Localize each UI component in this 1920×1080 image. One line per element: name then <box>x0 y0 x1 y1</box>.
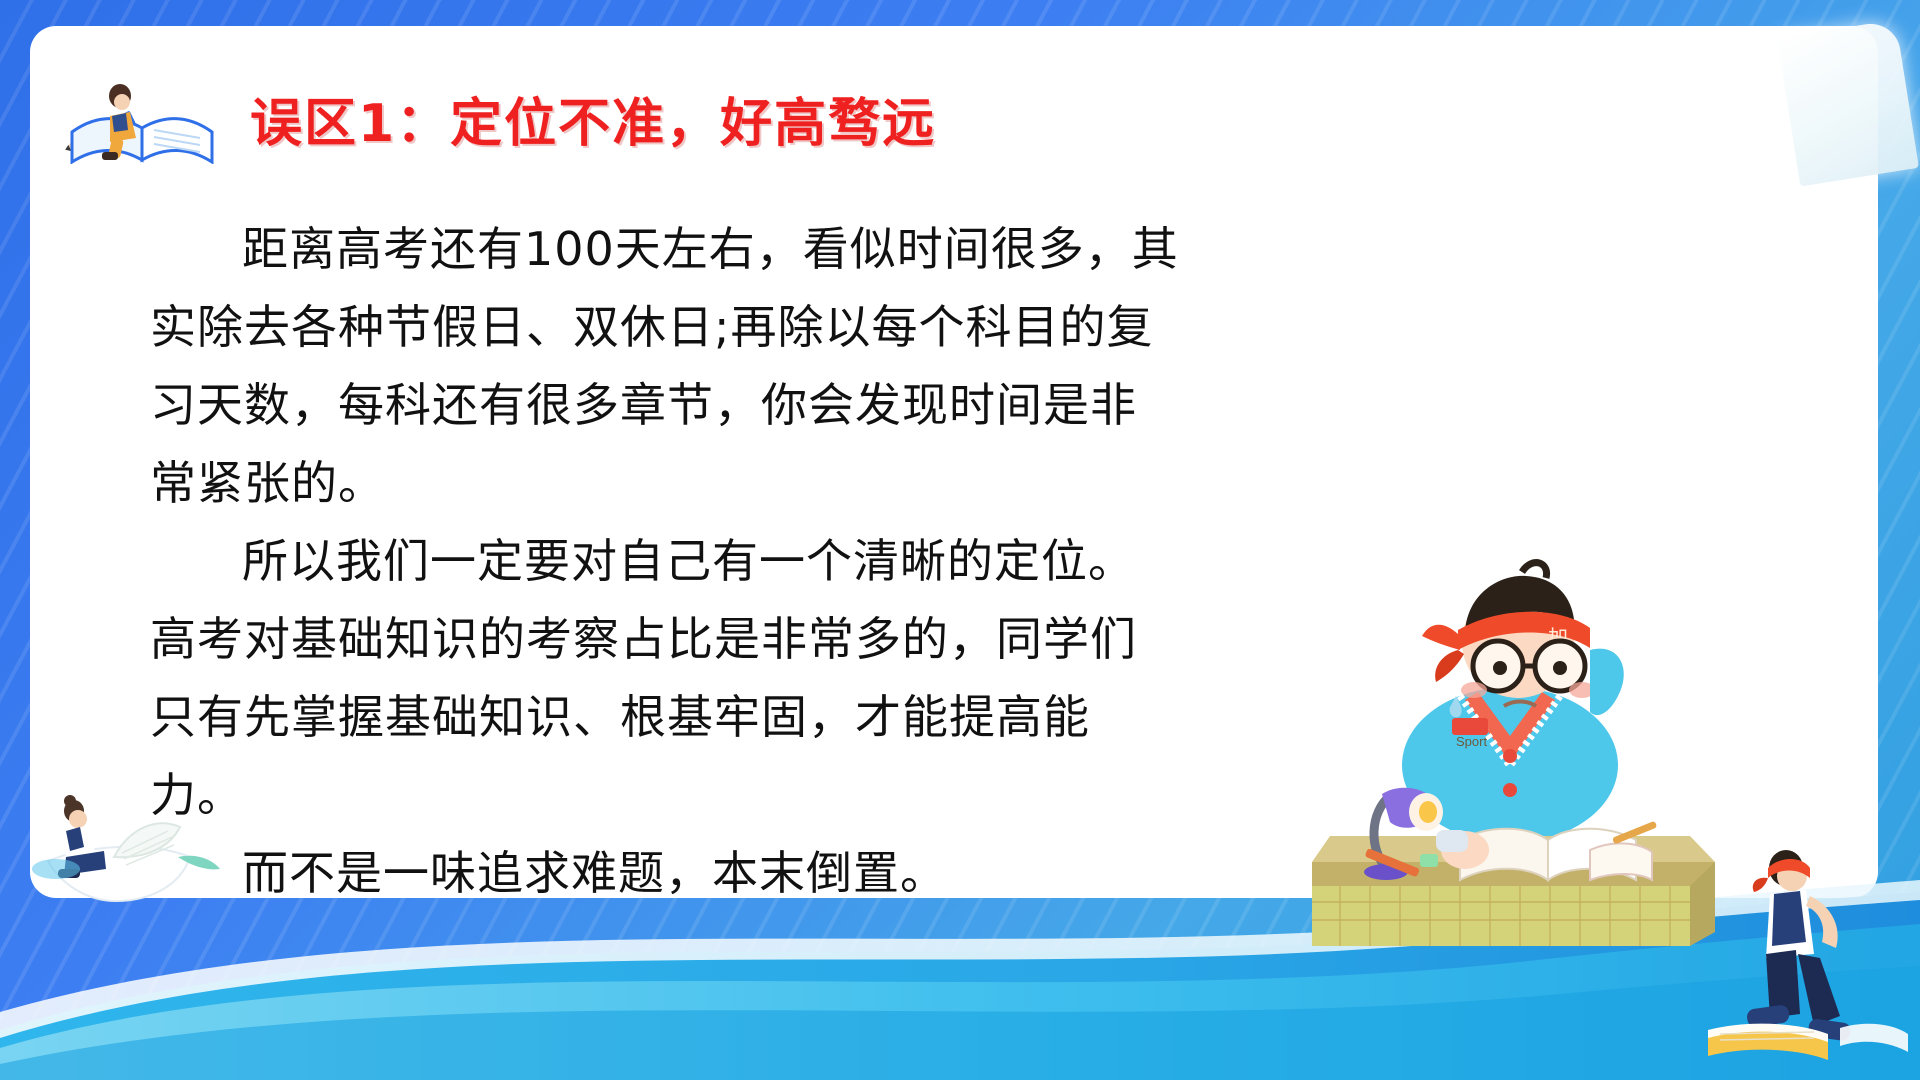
slide-header: 误区1：定位不准，好高骛远 <box>60 72 936 164</box>
paragraph-3: 而不是一味追求难题，本末倒置。 <box>150 834 1180 912</box>
paragraph-2: 所以我们一定要对自己有一个清晰的定位。高考对基础知识的考察占比是非常多的，同学们… <box>150 522 1180 834</box>
slide-root: 误区1：定位不准，好高骛远 距离高考还有100天左右，看似时间很多，其实除去各种… <box>0 0 1920 1080</box>
page-title: 误区1：定位不准，好高骛远 <box>250 81 936 156</box>
student-badge-text: Sport <box>1456 734 1487 749</box>
open-book-icon <box>60 72 230 164</box>
body-text: 距离高考还有100天左右，看似时间很多，其实除去各种节假日、双休日;再除以每个科… <box>150 210 1180 912</box>
girl-on-paper-boat-illustration <box>30 765 250 915</box>
paragraph-1: 距离高考还有100天左右，看似时间很多，其实除去各种节假日、双休日;再除以每个科… <box>150 210 1180 522</box>
floating-paper-sheet-icon <box>1777 20 1919 187</box>
running-student-illustration <box>1650 850 1910 1080</box>
